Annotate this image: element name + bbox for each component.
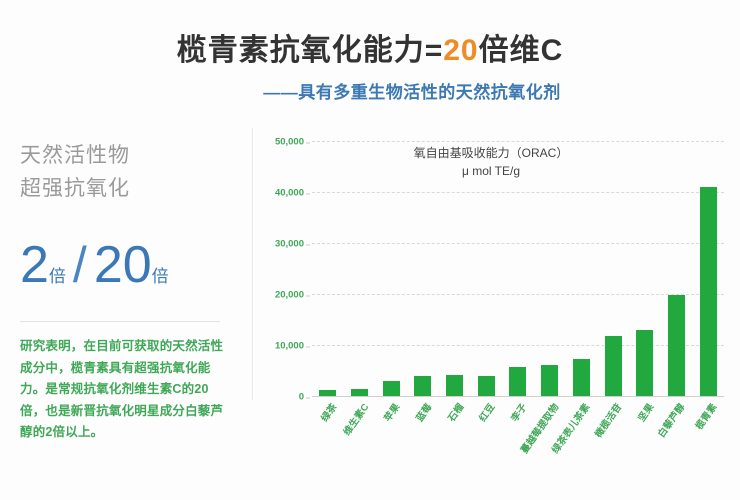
bar-slot xyxy=(692,141,724,396)
bar-slot xyxy=(312,141,344,396)
x-axis-label-slot: 橄榄活苷 xyxy=(597,398,629,412)
ratio-stat: 2倍/20倍 xyxy=(20,239,245,291)
bar[interactable] xyxy=(541,365,558,396)
ratio-second-number: 20 xyxy=(94,236,152,294)
x-axis-tick-label: 石榴 xyxy=(443,400,466,424)
infographic-canvas: 榄青素抗氧化能力=20倍维C ——具有多重生物活性的天然抗氧化剂 天然活性物 超… xyxy=(0,0,740,500)
left-headline-line-1: 天然活性物 xyxy=(20,140,245,173)
bar[interactable] xyxy=(605,336,622,396)
page-subtitle: ——具有多重生物活性的天然抗氧化剂 xyxy=(0,78,740,103)
bar[interactable] xyxy=(668,295,685,396)
bar[interactable] xyxy=(636,330,653,396)
x-axis-tick-label: 绿茶 xyxy=(317,400,340,424)
left-body-text: 研究表明，在目前可获取的天然活性成分中，榄青素具有超强抗氧化能力。是常规抗氧化剂… xyxy=(20,336,230,444)
x-axis-label-slot: 红豆 xyxy=(470,398,502,412)
bar-slot xyxy=(597,141,629,396)
bar-slot xyxy=(661,141,693,396)
x-axis-tick-label: 红豆 xyxy=(475,400,498,424)
x-axis-label-slot: 绿茶 xyxy=(312,398,344,412)
x-axis-label-slot: 榄青素 xyxy=(692,398,724,412)
y-axis-tick-label: 50,000 xyxy=(275,137,304,148)
bar[interactable] xyxy=(573,359,590,396)
left-panel: 天然活性物 超强抗氧化 2倍/20倍 研究表明，在目前可获取的天然活性成分中，榄… xyxy=(20,140,245,444)
bar[interactable] xyxy=(319,390,336,396)
bar-slot xyxy=(502,141,534,396)
horizontal-divider xyxy=(20,321,220,322)
bar[interactable] xyxy=(351,389,368,396)
x-axis-label-slot: 石榴 xyxy=(439,398,471,412)
ratio-first-unit: 倍 xyxy=(49,267,66,286)
x-axis-tick-label: 坚果 xyxy=(634,400,657,424)
left-headline: 天然活性物 超强抗氧化 xyxy=(20,140,245,205)
header: 榄青素抗氧化能力=20倍维C ——具有多重生物活性的天然抗氧化剂 xyxy=(0,34,740,103)
gridline: 0 xyxy=(312,396,724,397)
bar[interactable] xyxy=(478,376,495,396)
bar-slot xyxy=(375,141,407,396)
ratio-second-unit: 倍 xyxy=(152,267,169,286)
bar[interactable] xyxy=(509,367,526,396)
y-axis-tick-label: 40,000 xyxy=(275,188,304,199)
bar[interactable] xyxy=(700,187,717,396)
x-axis-label-slot: 坚果 xyxy=(629,398,661,412)
x-axis-label-slot: 白藜芦醇 xyxy=(661,398,693,412)
bar-slot xyxy=(629,141,661,396)
x-axis-tick-label: 蓝莓 xyxy=(412,400,435,424)
page-title: 榄青素抗氧化能力=20倍维C xyxy=(0,34,740,69)
left-headline-line-2: 超强抗氧化 xyxy=(20,173,245,206)
title-prefix: 榄青素抗氧化能力= xyxy=(177,34,444,67)
bar-slot xyxy=(566,141,598,396)
bar-slot xyxy=(534,141,566,396)
ratio-first-number: 2 xyxy=(20,236,49,294)
x-axis-tick-label: 李子 xyxy=(507,400,530,424)
y-axis-tick-label: 0 xyxy=(299,392,304,403)
x-axis-label-slot: 绿茶表儿茶素 xyxy=(566,398,598,412)
bar[interactable] xyxy=(414,376,431,396)
y-axis-tick-label: 10,000 xyxy=(275,341,304,352)
bar-slot xyxy=(470,141,502,396)
x-axis-label-slot: 蔓越莓提取物 xyxy=(534,398,566,412)
x-axis-labels: 绿茶维生素C苹果蓝莓石榴红豆李子蔓越莓提取物绿茶表儿茶素橄榄活苷坚果白藜芦醇榄青… xyxy=(312,398,724,412)
x-axis-label-slot: 苹果 xyxy=(375,398,407,412)
orac-bar-chart: 氧自由基吸收能力（ORAC） μ mol TE/g 010,00020,0003… xyxy=(252,128,730,488)
x-axis-tick-label: 维生素C xyxy=(339,400,371,438)
ratio-separator: / xyxy=(66,237,94,293)
x-axis-tick-label: 苹果 xyxy=(380,400,403,424)
bar[interactable] xyxy=(383,381,400,396)
x-axis-label-slot: 维生素C xyxy=(344,398,376,412)
bar-slot xyxy=(439,141,471,396)
y-axis-tick-label: 20,000 xyxy=(275,290,304,301)
y-axis-tick-label: 30,000 xyxy=(275,239,304,250)
bar-slot xyxy=(344,141,376,396)
title-accent-number: 20 xyxy=(443,34,478,67)
bar[interactable] xyxy=(446,375,463,396)
plot-area: 010,00020,00030,00040,00050,000 xyxy=(312,141,724,396)
bar-slot xyxy=(407,141,439,396)
bar-series xyxy=(312,141,724,396)
x-axis-label-slot: 李子 xyxy=(502,398,534,412)
x-axis-tick-label: 榄青素 xyxy=(691,400,719,432)
x-axis-label-slot: 蓝莓 xyxy=(407,398,439,412)
title-suffix: 倍维C xyxy=(479,34,564,67)
